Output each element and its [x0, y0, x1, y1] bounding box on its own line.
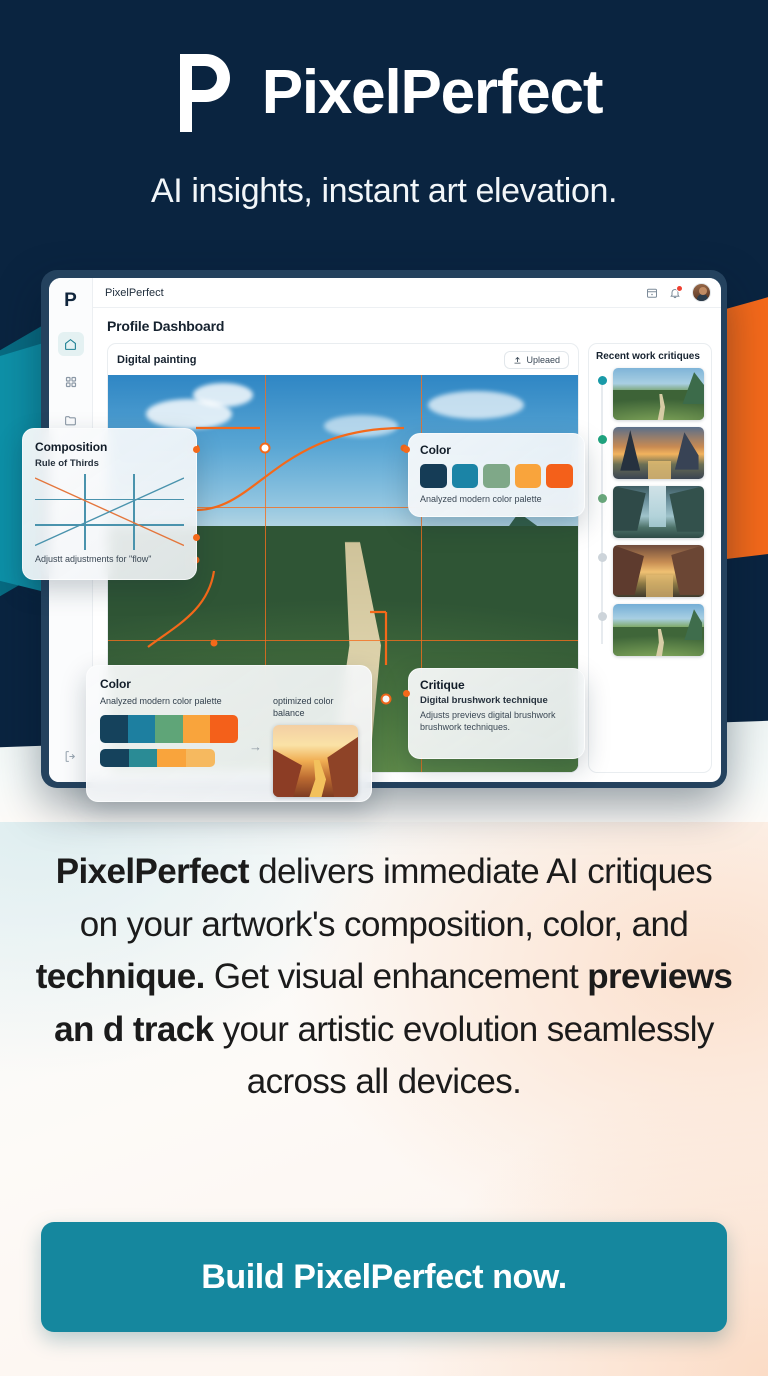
notification-badge: [676, 285, 683, 292]
color-swatch[interactable]: [483, 464, 510, 488]
critique-thumbnail: [613, 486, 704, 538]
timeline-line: [601, 376, 603, 644]
palette-optimized: optimized color balance: [273, 696, 358, 797]
timeline-dot: [598, 494, 607, 503]
page-title: Profile Dashboard: [93, 308, 721, 343]
sidebar-item-logout[interactable]: [64, 750, 77, 768]
palette-analyzed: Analyzed modern color palette: [100, 696, 238, 797]
color-swatch[interactable]: [420, 464, 447, 488]
color-card-columns: Analyzed modern color palette → optimize…: [100, 696, 358, 797]
list-item[interactable]: [613, 427, 704, 479]
timeline-dot: [598, 612, 607, 621]
palette-analyzed-label: Analyzed modern color palette: [100, 696, 238, 708]
composition-card[interactable]: Composition Rule of Thirds Adjustt adjus…: [22, 428, 197, 580]
landing-page: PixelPerfect AI insights, instant art el…: [0, 0, 768, 1376]
color-swatch[interactable]: [452, 464, 479, 488]
rule-of-thirds-diagram: [35, 474, 184, 550]
home-icon: [64, 338, 77, 351]
topbar-title: PixelPerfect: [105, 287, 164, 299]
card-anchor-dot: [403, 446, 410, 453]
arrow-right-icon: →: [248, 739, 263, 754]
critique-thumbnail: [613, 427, 704, 479]
timeline-dot: [598, 553, 607, 562]
optimized-preview-image: [273, 725, 358, 797]
recent-critiques-title: Recent work critiques: [596, 351, 704, 362]
avatar[interactable]: [692, 283, 711, 302]
calendar-icon: [646, 287, 658, 299]
critique-card-title: Critique: [420, 678, 573, 692]
color-swatch-row: [420, 464, 573, 488]
app-topbar: PixelPerfect: [93, 278, 721, 308]
list-item[interactable]: [613, 604, 704, 656]
cta-button[interactable]: Build PixelPerfect now.: [41, 1222, 727, 1332]
color-swatch[interactable]: [546, 464, 573, 488]
grid-apps-icon: [65, 376, 77, 388]
cta-label: Build PixelPerfect now.: [201, 1258, 567, 1297]
logout-icon: [64, 750, 77, 763]
annotation-node-focus[interactable]: [381, 693, 392, 704]
list-item[interactable]: [613, 368, 704, 420]
card-anchor-dot: [193, 534, 200, 541]
pixelperfect-p-logo-icon: [166, 50, 240, 136]
color-card-large[interactable]: Color Analyzed modern color palette → op…: [86, 665, 372, 802]
color-swatch[interactable]: [515, 464, 542, 488]
brand-row: PixelPerfect: [0, 0, 768, 136]
card-anchor-dot: [193, 446, 200, 453]
color-card-small-title: Color: [420, 443, 573, 457]
composition-card-subtitle: Rule of Thirds: [35, 458, 184, 469]
timeline-dot: [598, 376, 607, 385]
composition-card-footnote: Adjustt adjustments for "flow": [35, 554, 184, 566]
upload-button[interactable]: Upleaed: [504, 351, 569, 369]
hero-section: PixelPerfect AI insights, instant art el…: [0, 0, 768, 262]
hero-tagline: AI insights, instant art elevation.: [0, 172, 768, 211]
body-copy: PixelPerfect delivers immediate AI criti…: [0, 846, 768, 1109]
canvas-header: Digital painting Upleaed: [108, 344, 578, 375]
annotation-node-focus[interactable]: [259, 442, 270, 453]
body-copy-text: PixelPerfect delivers immediate AI criti…: [36, 852, 733, 1101]
palette-bar-top: [100, 715, 238, 743]
palette-optimized-label: optimized color balance: [273, 696, 358, 719]
sidebar-item-home[interactable]: [58, 332, 84, 356]
critique-card-body: Adjusts previevs digital brushwork brush…: [420, 710, 573, 734]
color-card-small[interactable]: Color Analyzed modern color palette: [408, 433, 585, 517]
sidebar-logo: P: [49, 286, 92, 316]
color-card-small-caption: Analyzed modern color palette: [420, 494, 573, 506]
sidebar-item-apps[interactable]: [58, 370, 84, 394]
recent-critiques-list: [596, 368, 704, 656]
composition-card-title: Composition: [35, 440, 184, 454]
list-item[interactable]: [613, 486, 704, 538]
notifications-button[interactable]: [669, 287, 681, 299]
palette-bar-bottom: [100, 749, 215, 767]
canvas-title: Digital painting: [117, 354, 196, 366]
critique-card-subtitle: Digital brushwork technique: [420, 695, 573, 706]
recent-critiques-panel: Recent work critiques: [588, 343, 712, 773]
critique-thumbnail: [613, 545, 704, 597]
brand-name: PixelPerfect: [262, 62, 603, 124]
upload-icon: [513, 356, 522, 365]
topbar-actions: [646, 283, 711, 302]
critique-card[interactable]: Critique Digital brushwork technique Adj…: [408, 668, 585, 759]
list-item[interactable]: [613, 545, 704, 597]
color-card-large-title: Color: [100, 677, 358, 691]
folder-icon: [64, 414, 77, 427]
timeline-dot: [598, 435, 607, 444]
diagonal-guides: [35, 474, 184, 549]
annotation-node[interactable]: [211, 639, 218, 646]
upload-button-label: Upleaed: [526, 355, 560, 365]
card-anchor-dot: [403, 690, 410, 697]
critique-thumbnail: [613, 604, 704, 656]
calendar-button[interactable]: [646, 287, 658, 299]
critique-thumbnail: [613, 368, 704, 420]
